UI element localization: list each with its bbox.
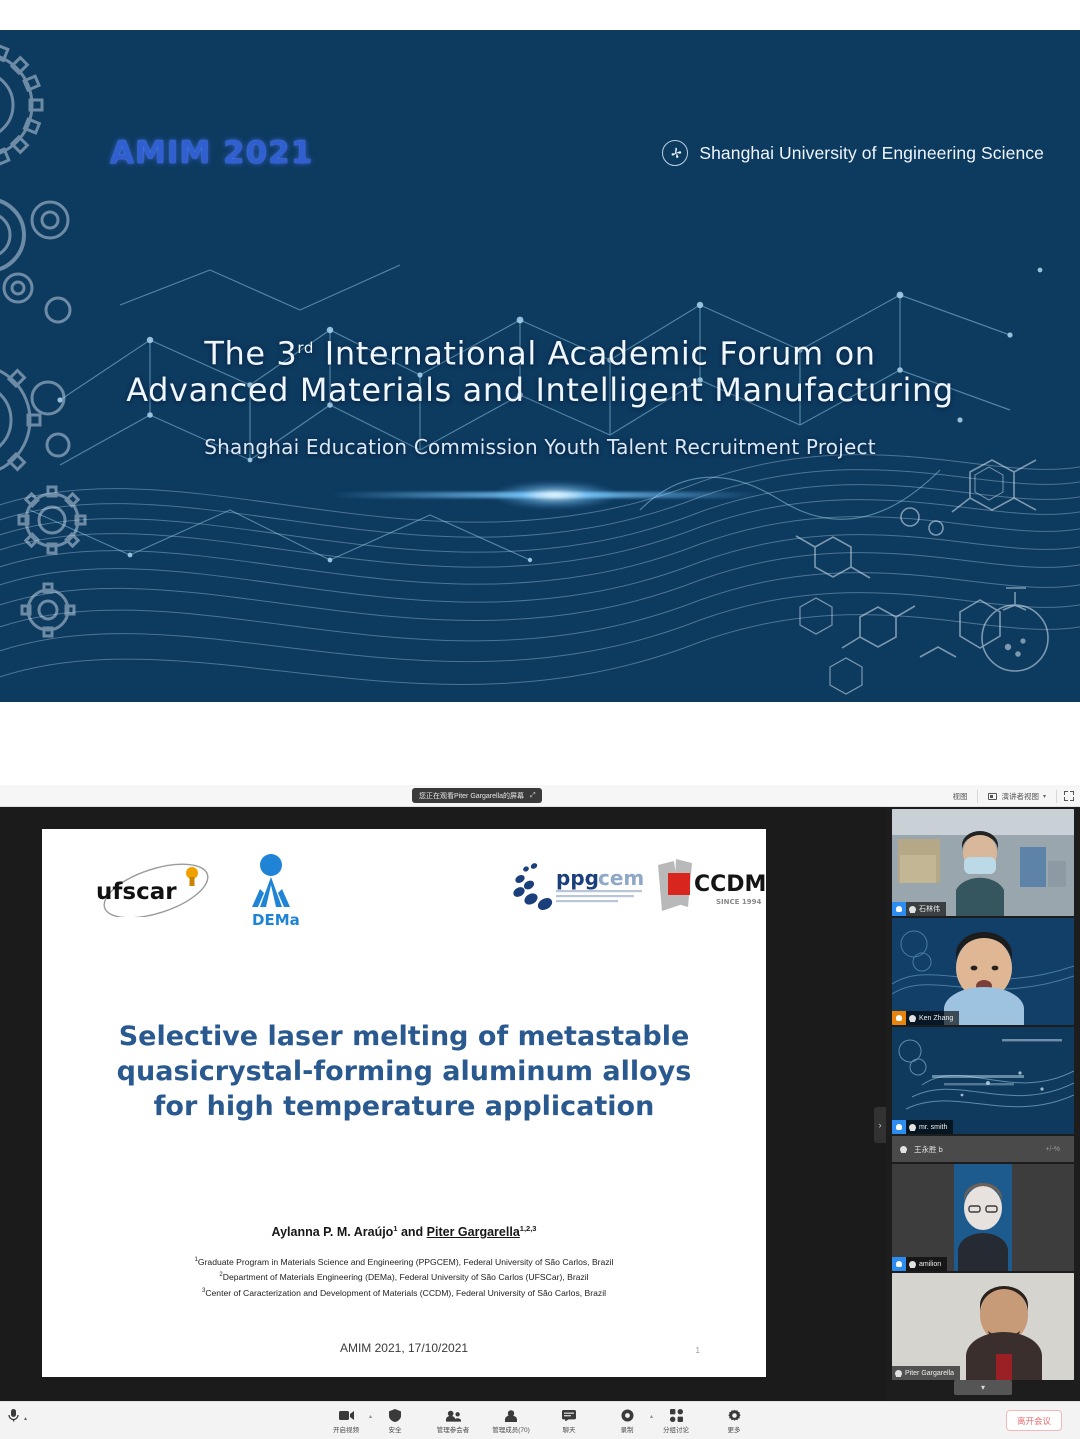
affiliation-text: Graduate Program in Materials Science an… <box>198 1257 614 1267</box>
author-two-sup: 1,2,3 <box>520 1224 537 1233</box>
participants-icon <box>446 1409 461 1423</box>
author-two: Piter Gargarella <box>427 1225 520 1239</box>
breakout-rooms-button[interactable]: 分组讨论 <box>647 1402 705 1439</box>
banner-title: The 3rd International Academic Forum on … <box>0 330 1080 408</box>
toolbar-divider <box>977 790 978 803</box>
more-label: 更多 <box>728 1424 741 1434</box>
affiliation-text: Department of Materials Engineering (DEM… <box>223 1272 589 1282</box>
svg-text:ppg: ppg <box>556 866 599 890</box>
chemical-structures-decoration-icon <box>760 442 1080 702</box>
view-label: 视图 <box>949 791 970 802</box>
manage-participants-label: 管理参会者 <box>437 1424 470 1434</box>
record-icon <box>620 1409 635 1423</box>
affiliation-row: 3Center of Caracterization and Developme… <box>70 1285 738 1300</box>
toolbar-divider-2 <box>1056 790 1057 803</box>
monitor-icon <box>988 793 997 800</box>
participants-filmstrip[interactable]: 石林伟 <box>886 807 1080 1401</box>
tooltip-name: 王永胜 b <box>914 1144 943 1155</box>
banner-title-ordinal: rd <box>297 339 314 357</box>
participant-video <box>892 1027 1074 1134</box>
breakout-rooms-label: 分组讨论 <box>663 1424 689 1434</box>
participant-label: Ken Zhang <box>892 1011 959 1025</box>
avatar-icon <box>909 1261 916 1268</box>
amim-event-logo: AMIM 2021 <box>110 135 313 171</box>
participant-tile[interactable]: Piter Gargarella <box>892 1273 1074 1380</box>
participant-label: 石林伟 <box>892 902 946 916</box>
participant-name: mr. smith <box>919 1124 947 1131</box>
manage-members-label: 管理成员(70) <box>492 1424 530 1434</box>
breakout-rooms-icon <box>669 1409 684 1423</box>
microphone-muted-icon <box>892 902 906 916</box>
microphone-muted-icon <box>892 1120 906 1134</box>
chevron-down-icon: ▾ <box>981 1383 985 1392</box>
view-label-text: 视图 <box>952 791 967 802</box>
chat-icon <box>562 1409 577 1423</box>
speaker-view-label: 演讲者视图 <box>1001 791 1039 802</box>
participant-name: Ken Zhang <box>919 1015 953 1022</box>
manage-participants-button[interactable]: 管理参会者 <box>424 1402 482 1439</box>
participant-name-chip: Piter Gargarella <box>892 1366 960 1380</box>
participant-tile[interactable]: amilion <box>892 1164 1074 1271</box>
avatar-icon <box>909 1015 916 1022</box>
avatar-icon <box>900 1146 907 1153</box>
ccdm-logo: CCDM SINCE 1994 <box>654 857 774 921</box>
participant-name: amilion <box>919 1261 941 1268</box>
shield-security-icon <box>388 1409 403 1423</box>
ufscar-logo: ufscar <box>94 861 224 917</box>
author-one: Aylanna P. M. Araújo <box>272 1225 394 1239</box>
svg-text:cem: cem <box>598 866 644 890</box>
svg-text:ufscar: ufscar <box>96 879 177 905</box>
slide-page-number: 1 <box>696 1346 700 1355</box>
expand-icon[interactable]: ⤢ <box>530 792 536 800</box>
chevron-up-icon[interactable]: ▴ <box>24 1415 27 1422</box>
slide-title-line-1: Selective laser melting of metastable <box>82 1019 726 1054</box>
slide-title-line-3: for high temperature application <box>82 1089 726 1124</box>
zoom-meeting-window: 您正在观看Piter Gargarella的屏幕 ⤢ 视图 演讲者视图 ▾ <box>0 785 1080 1439</box>
start-video-label: 开启视频 <box>333 1424 359 1434</box>
chat-button[interactable]: 聊天 <box>540 1402 598 1439</box>
screen-share-notice[interactable]: 您正在观看Piter Gargarella的屏幕 ⤢ <box>412 788 542 803</box>
slide-footer: AMIM 2021, 17/10/2021 <box>42 1341 766 1355</box>
participant-tile[interactable]: mr. smith <box>892 1027 1074 1134</box>
microphone-icon <box>6 1408 21 1422</box>
slide-affiliations: 1Graduate Program in Materials Science a… <box>70 1254 738 1300</box>
participant-video <box>892 1164 1074 1271</box>
banner-title-rest: International Academic Forum on <box>314 335 876 373</box>
mute-toggle-button[interactable]: ▴ <box>6 1408 27 1422</box>
record-label: 录制 <box>621 1424 634 1434</box>
banner-title-line2: Advanced Materials and Intelligent Manuf… <box>0 372 1080 408</box>
shared-screen-stage: ufscar <box>0 807 886 1401</box>
chevron-right-icon[interactable]: › <box>874 1107 886 1143</box>
participant-label: Piter Gargarella <box>892 1366 960 1380</box>
zoom-bottom-toolbar: ▴ 开启视频 ▴ 安全 <box>0 1401 1080 1439</box>
participant-label: mr. smith <box>892 1120 953 1134</box>
avatar-icon <box>909 1124 916 1131</box>
manage-members-button[interactable]: 管理成员(70) <box>482 1402 540 1439</box>
affiliation-text: Center of Caracterization and Developmen… <box>205 1288 606 1298</box>
svg-text:DEMa: DEMa <box>252 911 300 929</box>
slide-authors: Aylanna P. M. Araújo1 and Piter Gargarel… <box>42 1224 766 1239</box>
banner-title-prefix: The 3 <box>204 335 297 373</box>
conference-banner: AMIM 2021 Shanghai University of Enginee… <box>0 30 1080 702</box>
new-share-icon <box>504 1409 519 1423</box>
participant-video <box>892 1273 1074 1380</box>
participant-name-chip: Ken Zhang <box>906 1011 959 1025</box>
participant-tile[interactable]: Ken Zhang <box>892 918 1074 1025</box>
chevron-down-icon[interactable]: ▾ <box>1043 793 1046 800</box>
affiliation-row: 2Department of Materials Engineering (DE… <box>70 1269 738 1284</box>
toolbar-buttons: 开启视频 ▴ 安全 管理参会者 <box>317 1402 763 1439</box>
author-join: and <box>398 1225 427 1239</box>
presentation-slide: ufscar <box>42 829 766 1377</box>
participant-hover-tooltip: 王永胜 b +/-% <box>892 1136 1074 1162</box>
svg-text:CCDM: CCDM <box>694 872 766 897</box>
participant-video <box>892 809 1074 916</box>
security-label: 安全 <box>389 1424 402 1434</box>
chat-label: 聊天 <box>563 1424 576 1434</box>
ppgcem-logo: ppg cem <box>512 859 667 919</box>
filmstrip-scroll-down-button[interactable]: ▾ <box>954 1380 1012 1395</box>
university-name: Shanghai University of Engineering Scien… <box>699 143 1044 164</box>
security-button[interactable]: 安全 <box>366 1402 424 1439</box>
participant-name-chip: mr. smith <box>906 1120 953 1134</box>
microphone-muted-icon <box>892 1257 906 1271</box>
fullscreen-icon[interactable] <box>1064 791 1074 801</box>
svg-text:SINCE 1994: SINCE 1994 <box>716 898 761 906</box>
screenshot-page: AMIM 2021 Shanghai University of Enginee… <box>0 0 1080 1439</box>
university-brand: Shanghai University of Engineering Scien… <box>662 140 1044 166</box>
tooltip-meta: +/-% <box>1045 1146 1060 1153</box>
dema-logo: DEMa <box>232 851 310 929</box>
zoom-top-bar: 您正在观看Piter Gargarella的屏幕 ⤢ 视图 演讲者视图 ▾ <box>0 785 1080 807</box>
participant-label: amilion <box>892 1257 947 1271</box>
speaker-view-button[interactable]: 演讲者视图 ▾ <box>985 791 1049 802</box>
slide-logo-row: ufscar <box>42 843 766 928</box>
slide-title-line-2: quasicrystal-forming aluminum alloys <box>82 1054 726 1089</box>
sues-emblem-icon <box>662 140 688 166</box>
participant-name-chip: 石林伟 <box>906 902 946 916</box>
avatar-icon <box>895 1370 902 1377</box>
slide-title: Selective laser melting of metastable qu… <box>82 1019 726 1124</box>
leave-meeting-button[interactable]: 离开会议 <box>1006 1410 1062 1431</box>
participant-name: Piter Gargarella <box>905 1370 954 1377</box>
banner-subtitle: Shanghai Education Commission Youth Tale… <box>0 435 1080 459</box>
participant-video <box>892 918 1074 1025</box>
affiliation-row: 1Graduate Program in Materials Science a… <box>70 1254 738 1269</box>
participant-tile[interactable]: 石林伟 <box>892 809 1074 916</box>
video-camera-icon <box>338 1409 353 1423</box>
microphone-active-icon <box>892 1011 906 1025</box>
more-gear-icon <box>727 1409 742 1423</box>
participant-name: 石林伟 <box>919 904 940 914</box>
avatar-icon <box>909 906 916 913</box>
participant-name-chip: amilion <box>906 1257 947 1271</box>
more-button[interactable]: 更多 <box>705 1402 763 1439</box>
screen-share-notice-text: 您正在观看Piter Gargarella的屏幕 <box>419 791 524 801</box>
